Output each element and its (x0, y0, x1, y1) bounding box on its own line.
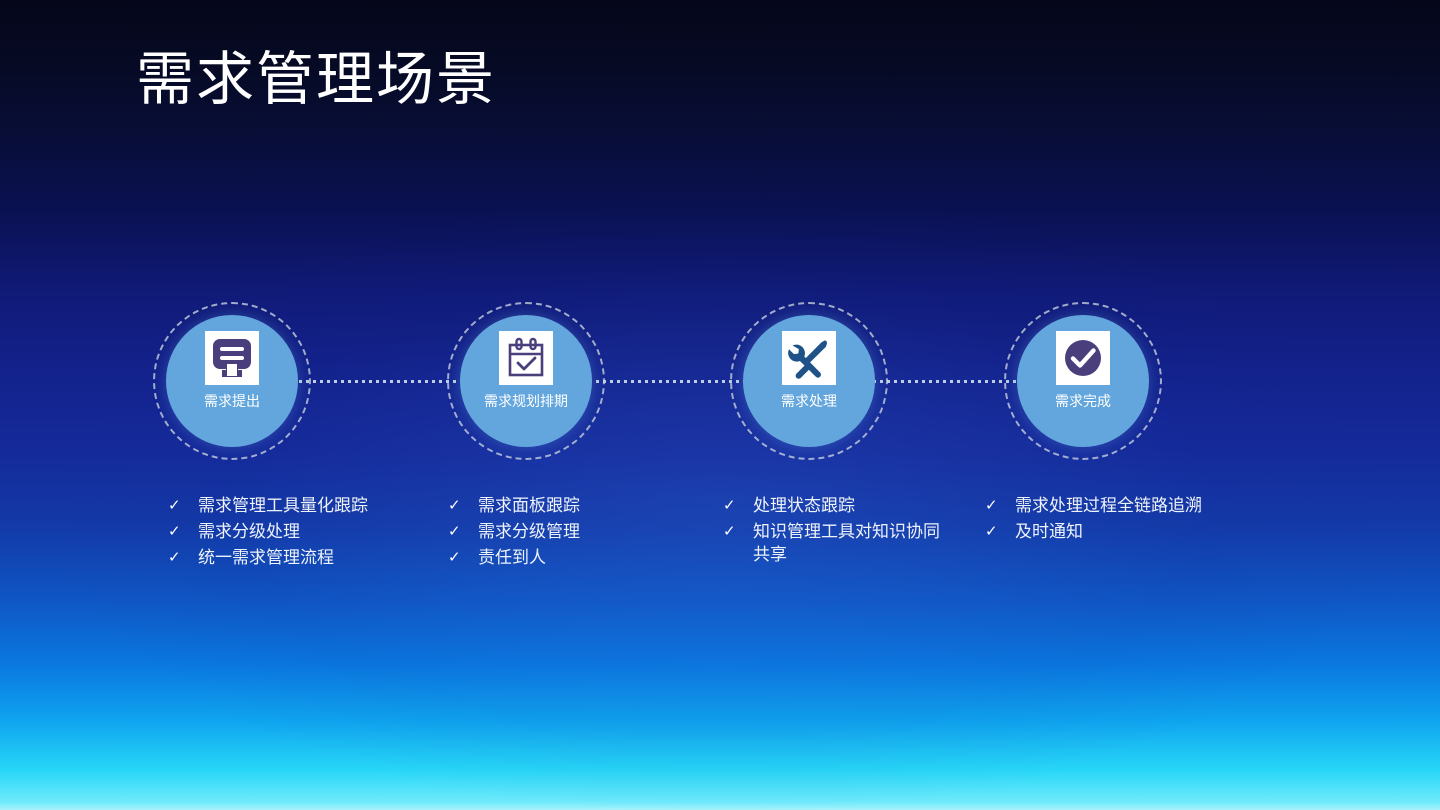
list-item-label: 统一需求管理流程 (198, 546, 334, 569)
step-disc: 需求提出 (166, 315, 298, 447)
check-icon: ✓ (168, 546, 198, 569)
bullet-column-2: ✓ 需求面板跟踪 ✓ 需求分级管理 ✓ 责任到人 (448, 494, 678, 572)
slide-canvas: 需求管理场景 需求提出 (0, 0, 1440, 810)
connector-2-3 (582, 380, 745, 383)
connector-1-2 (299, 380, 462, 383)
step-label: 需求完成 (1055, 394, 1111, 408)
step-label: 需求规划排期 (484, 394, 568, 408)
check-icon: ✓ (448, 494, 478, 517)
process-flow: 需求提出 需求规划排期 (0, 302, 1440, 462)
flow-step-3[interactable]: 需求处理 (730, 302, 888, 460)
calendar-check-icon (499, 331, 553, 385)
list-item-label: 知识管理工具对知识协同共享 (753, 520, 951, 566)
check-icon: ✓ (723, 494, 753, 517)
bullet-column-3: ✓ 处理状态跟踪 ✓ 知识管理工具对知识协同共享 (723, 494, 951, 569)
list-item-label: 处理状态跟踪 (753, 494, 855, 517)
list-item-label: 需求分级管理 (478, 520, 580, 543)
bullet-column-1: ✓ 需求管理工具量化跟踪 ✓ 需求分级处理 ✓ 统一需求管理流程 (168, 494, 418, 572)
list-item-label: 需求处理过程全链路追溯 (1015, 494, 1202, 517)
list-item: ✓ 处理状态跟踪 (723, 494, 951, 517)
wrench-screwdriver-tools-icon (782, 331, 836, 385)
check-icon: ✓ (448, 546, 478, 569)
list-item-label: 需求分级处理 (198, 520, 300, 543)
page-title: 需求管理场景 (136, 48, 496, 112)
check-icon: ✓ (985, 520, 1015, 543)
list-item-label: 及时通知 (1015, 520, 1083, 543)
bullet-column-4: ✓ 需求处理过程全链路追溯 ✓ 及时通知 (985, 494, 1213, 546)
bullet-columns: ✓ 需求管理工具量化跟踪 ✓ 需求分级处理 ✓ 统一需求管理流程 ✓ 需求面板跟… (0, 494, 1440, 604)
check-icon: ✓ (448, 520, 478, 543)
check-icon: ✓ (723, 520, 753, 543)
list-item: ✓ 统一需求管理流程 (168, 546, 418, 569)
step-disc: 需求完成 (1017, 315, 1149, 447)
list-item: ✓ 责任到人 (448, 546, 678, 569)
list-item: ✓ 及时通知 (985, 520, 1213, 543)
check-icon: ✓ (168, 520, 198, 543)
list-item: ✓ 需求面板跟踪 (448, 494, 678, 517)
step-label: 需求处理 (781, 394, 837, 408)
step-disc: 需求规划排期 (460, 315, 592, 447)
list-item: ✓ 需求分级管理 (448, 520, 678, 543)
step-disc: 需求处理 (743, 315, 875, 447)
list-item: ✓ 需求分级处理 (168, 520, 418, 543)
step-label: 需求提出 (204, 394, 260, 408)
list-item-label: 需求管理工具量化跟踪 (198, 494, 368, 517)
list-item-label: 需求面板跟踪 (478, 494, 580, 517)
list-item: ✓ 需求管理工具量化跟踪 (168, 494, 418, 517)
flow-step-1[interactable]: 需求提出 (153, 302, 311, 460)
list-item: ✓ 知识管理工具对知识协同共享 (723, 520, 951, 566)
flow-step-2[interactable]: 需求规划排期 (447, 302, 605, 460)
list-item-label: 责任到人 (478, 546, 546, 569)
check-icon: ✓ (168, 494, 198, 517)
flow-step-4[interactable]: 需求完成 (1004, 302, 1162, 460)
list-item: ✓ 需求处理过程全链路追溯 (985, 494, 1213, 517)
check-circle-icon (1056, 331, 1110, 385)
check-icon: ✓ (985, 494, 1015, 517)
speech-bubble-message-icon (205, 331, 259, 385)
